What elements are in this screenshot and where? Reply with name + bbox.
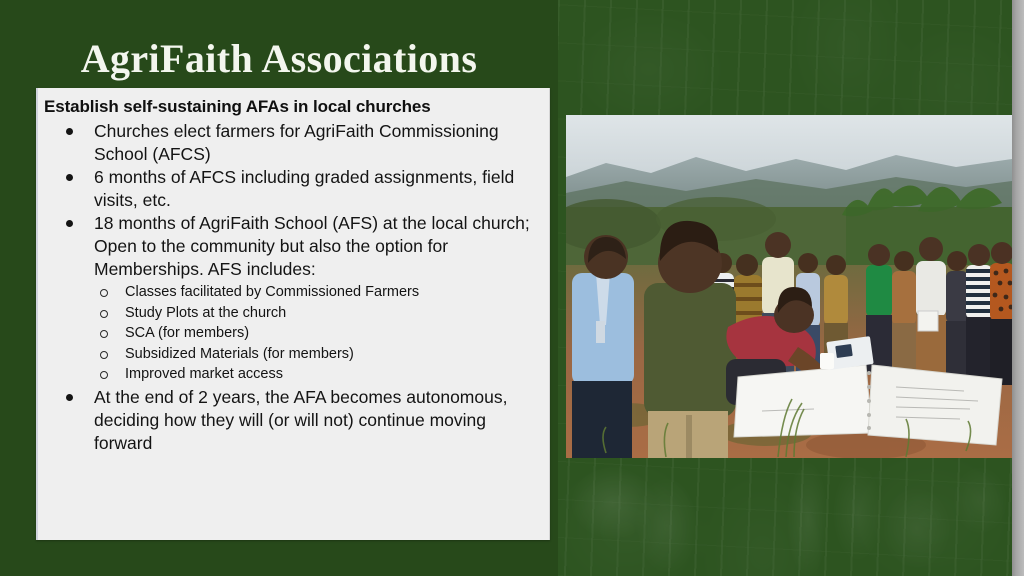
bullet-circle-icon xyxy=(100,310,108,318)
page-title: AgriFaith Associations xyxy=(0,36,558,82)
content-heading: Establish self-sustaining AFAs in local … xyxy=(44,96,549,118)
list-item: Churches elect farmers for AgriFaith Com… xyxy=(38,120,543,166)
slide-photo xyxy=(566,115,1012,458)
bullet-text: At the end of 2 years, the AFA becomes a… xyxy=(94,386,543,455)
sub-bullet-text: SCA (for members) xyxy=(125,325,249,341)
sub-list-item: Improved market access xyxy=(94,364,543,385)
list-item: 6 months of AFCS including graded assign… xyxy=(38,166,543,212)
sub-bullet-text: Subsidized Materials (for members) xyxy=(125,346,354,362)
sub-bullet-text: Classes facilitated by Commissioned Farm… xyxy=(125,284,419,300)
presentation-slide: AgriFaith Associations Establish self-su… xyxy=(0,0,1024,576)
sub-list-item: SCA (for members) xyxy=(94,323,543,344)
bullet-circle-icon xyxy=(100,289,108,297)
bullet-dot-icon xyxy=(66,394,73,401)
content-textbox: Establish self-sustaining AFAs in local … xyxy=(36,88,550,540)
sub-list-item: Subsidized Materials (for members) xyxy=(94,344,543,365)
sub-list-item: Study Plots at the church xyxy=(94,303,543,324)
sub-list-item: Classes facilitated by Commissioned Farm… xyxy=(94,282,543,303)
bullet-text: 18 months of AgriFaith School (AFS) at t… xyxy=(94,212,543,281)
sub-bullet-text: Improved market access xyxy=(125,366,283,382)
bullet-circle-icon xyxy=(100,330,108,338)
sub-bullet-list: Classes facilitated by Commissioned Farm… xyxy=(94,282,543,385)
bullet-dot-icon xyxy=(66,174,73,181)
sub-bullet-text: Study Plots at the church xyxy=(125,305,286,321)
bullet-text: 6 months of AFCS including graded assign… xyxy=(94,166,543,212)
bullet-text: Churches elect farmers for AgriFaith Com… xyxy=(94,120,543,166)
bullet-list: Churches elect farmers for AgriFaith Com… xyxy=(38,120,549,455)
slide-right-border xyxy=(1012,0,1024,576)
bullet-dot-icon xyxy=(66,220,73,227)
bullet-circle-icon xyxy=(100,351,108,359)
bullet-circle-icon xyxy=(100,371,108,379)
list-item: At the end of 2 years, the AFA becomes a… xyxy=(38,386,543,455)
background-watermark-bottom xyxy=(558,450,1012,576)
bullet-dot-icon xyxy=(66,128,73,135)
photo-illustration xyxy=(566,115,1012,458)
list-item: 18 months of AgriFaith School (AFS) at t… xyxy=(38,212,543,385)
